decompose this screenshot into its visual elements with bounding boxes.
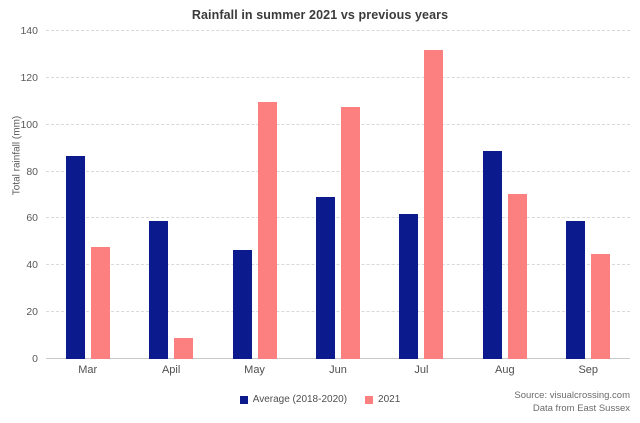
x-axis-labels: MarApilMayJunJulAugSep bbox=[46, 364, 630, 376]
source-line-2: Data from East Sussex bbox=[514, 402, 630, 415]
y-tick-label: 100 bbox=[20, 119, 38, 131]
y-tick-label: 120 bbox=[20, 72, 38, 84]
y-tick-label: 40 bbox=[26, 259, 38, 271]
x-tick-label: Sep bbox=[547, 364, 630, 376]
legend-item[interactable]: Average (2018-2020) bbox=[240, 394, 347, 405]
plot-area: 020406080100120140 bbox=[46, 31, 630, 359]
legend-label: Average (2018-2020) bbox=[253, 394, 347, 405]
source-line-1: Source: visualcrossing.com bbox=[514, 389, 630, 402]
legend-label: 2021 bbox=[378, 394, 400, 405]
legend-item[interactable]: 2021 bbox=[365, 394, 400, 405]
chart-title: Rainfall in summer 2021 vs previous year… bbox=[0, 8, 640, 22]
bar[interactable] bbox=[66, 156, 85, 359]
y-tick-label: 60 bbox=[26, 212, 38, 224]
bar[interactable] bbox=[399, 214, 418, 359]
y-tick-label: 140 bbox=[20, 25, 38, 37]
bars-layer bbox=[46, 31, 630, 359]
x-tick-label: Aug bbox=[463, 364, 546, 376]
bar-group bbox=[380, 31, 463, 359]
bar-group bbox=[547, 31, 630, 359]
bar-group bbox=[129, 31, 212, 359]
y-tick-label: 20 bbox=[26, 306, 38, 318]
rainfall-bar-chart: Rainfall in summer 2021 vs previous year… bbox=[0, 0, 640, 423]
x-tick-label: Mar bbox=[46, 364, 129, 376]
bar[interactable] bbox=[424, 50, 443, 359]
y-axis-title: Total rainfall (mm) bbox=[12, 91, 23, 221]
bar[interactable] bbox=[233, 250, 252, 359]
legend-swatch-icon bbox=[365, 396, 373, 404]
bar[interactable] bbox=[174, 338, 193, 359]
bar[interactable] bbox=[149, 221, 168, 359]
y-tick-label: 0 bbox=[32, 353, 38, 365]
bar[interactable] bbox=[483, 151, 502, 360]
bar[interactable] bbox=[258, 102, 277, 359]
bar-group bbox=[213, 31, 296, 359]
x-tick-label: Jun bbox=[296, 364, 379, 376]
bar-group bbox=[463, 31, 546, 359]
bar-group bbox=[46, 31, 129, 359]
bar[interactable] bbox=[508, 194, 527, 359]
legend-swatch-icon bbox=[240, 396, 248, 404]
source-note: Source: visualcrossing.com Data from Eas… bbox=[514, 389, 630, 415]
bar[interactable] bbox=[316, 197, 335, 359]
x-tick-label: Apil bbox=[129, 364, 212, 376]
bar[interactable] bbox=[566, 221, 585, 359]
x-tick-label: Jul bbox=[380, 364, 463, 376]
bar[interactable] bbox=[91, 247, 110, 359]
bar[interactable] bbox=[591, 254, 610, 359]
y-tick-label: 80 bbox=[26, 166, 38, 178]
bar-group bbox=[296, 31, 379, 359]
x-tick-label: May bbox=[213, 364, 296, 376]
bar[interactable] bbox=[341, 107, 360, 359]
